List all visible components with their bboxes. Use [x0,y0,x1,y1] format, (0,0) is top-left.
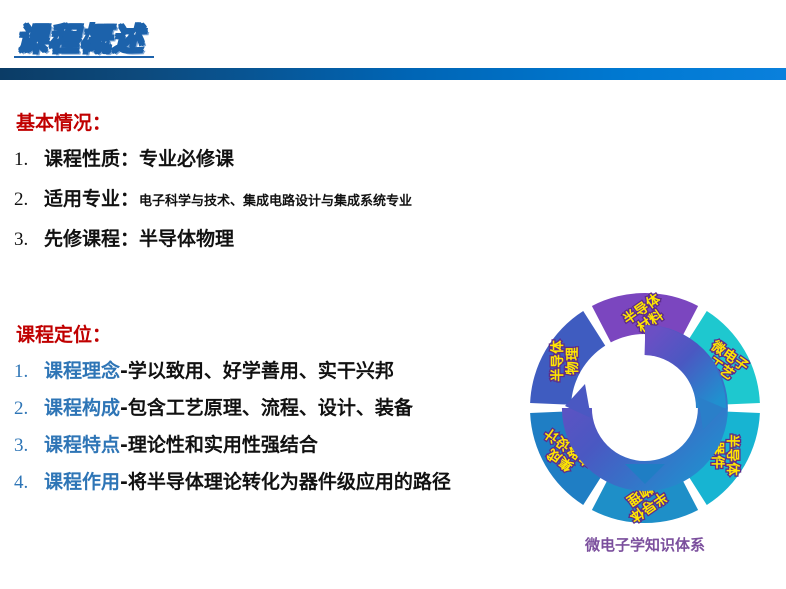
list-item-value: 电子科学与技术、集成电路设计与集成系统专业 [139,190,412,209]
list-item-value: -将半导体理论转化为器件级应用的路径 [120,467,451,494]
list-item-value: -包含工艺原理、流程、设计、装备 [120,393,413,420]
list-item: 1. 课程性质： 专业必修课 [14,144,412,171]
list-item: 4. 课程作用 -将半导体理论转化为器件级应用的路径 [14,467,451,494]
list-item-label: 课程性质： [44,144,139,171]
list-item-number: 1. [14,149,44,171]
list-item-value: -学以致用、好学善用、实干兴邦 [120,356,394,383]
list-item: 3. 先修课程： 半导体物理 [14,224,412,251]
list-item-label: 适用专业： [44,184,139,211]
list-item-label: 课程作用 [44,467,120,494]
list-item-number: 2. [14,398,44,420]
inner-cycle-arrows [565,340,724,484]
section-heading-position: 课程定位： [16,320,111,347]
list-item-value: 专业必修课 [139,144,234,171]
slide-header: 课程概述 [0,0,786,80]
header-accent-bar [0,68,786,80]
list-item-number: 3. [14,229,44,251]
list-item: 3. 课程特点 -理论性和实用性强结合 [14,430,451,457]
diagram-caption: 微电子学知识体系 [525,534,765,555]
list-basic-info: 1. 课程性质： 专业必修课 2. 适用专业： 电子科学与技术、集成电路设计与集… [14,144,412,264]
list-item-value: 半导体物理 [139,224,234,251]
knowledge-system-wheel-diagram: 半导体材料微电子工艺半导体器件半导体物理集成电路设计半导体物理 [525,288,765,528]
list-item: 1. 课程理念 -学以致用、好学善用、实干兴邦 [14,356,451,383]
list-item-label: 课程构成 [44,393,120,420]
list-item-label: 课程特点 [44,430,120,457]
list-item-number: 1. [14,361,44,383]
page-title: 课程概述 [16,14,144,59]
list-item-number: 4. [14,472,44,494]
list-item-label: 课程理念 [44,356,120,383]
list-item-number: 2. [14,189,44,211]
list-item-value: -理论性和实用性强结合 [120,430,318,457]
wheel-svg: 半导体材料微电子工艺半导体器件半导体物理集成电路设计半导体物理 [525,288,765,528]
title-underline-divider [14,56,154,58]
slide-content: 基本情况： 1. 课程性质： 专业必修课 2. 适用专业： 电子科学与技术、集成… [0,80,560,589]
list-item: 2. 适用专业： 电子科学与技术、集成电路设计与集成系统专业 [14,184,412,211]
list-course-position: 1. 课程理念 -学以致用、好学善用、实干兴邦 2. 课程构成 -包含工艺原理、… [14,356,451,504]
list-item-label: 先修课程： [44,224,139,251]
section-heading-basic: 基本情况： [16,108,111,135]
list-item: 2. 课程构成 -包含工艺原理、流程、设计、装备 [14,393,451,420]
list-item-number: 3. [14,435,44,457]
